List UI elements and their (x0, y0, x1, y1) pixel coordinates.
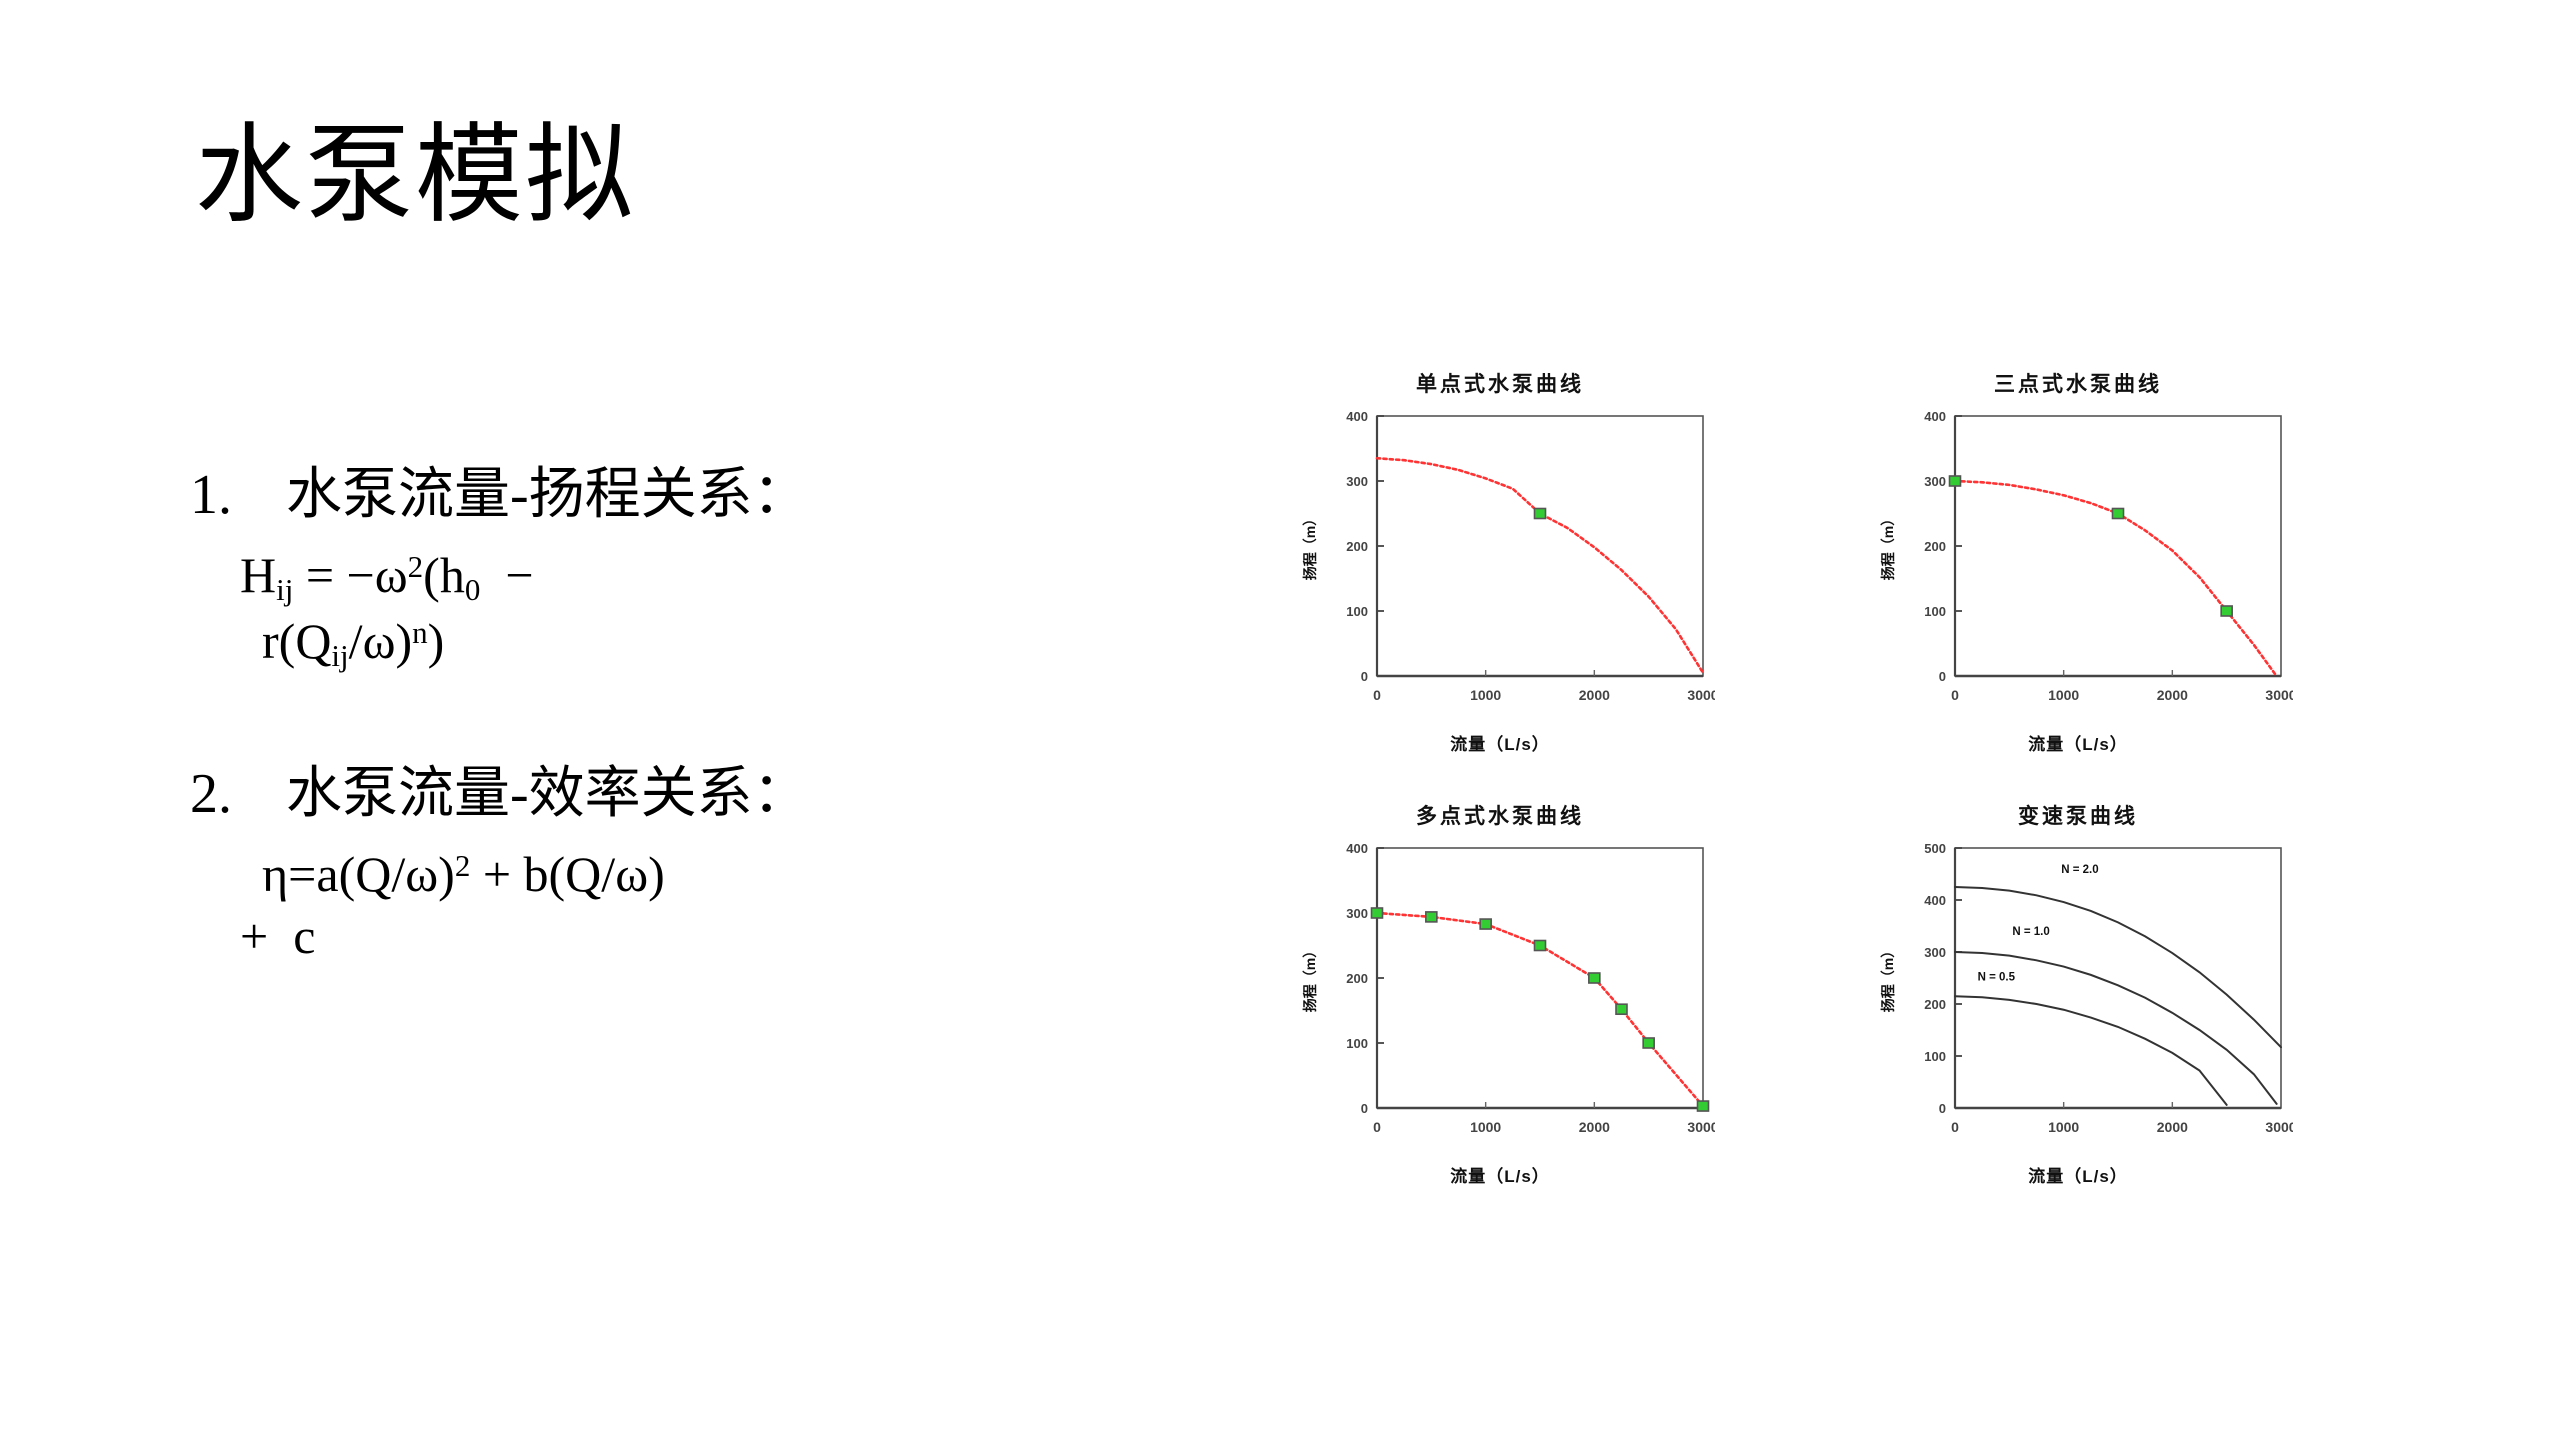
chart-three-point-xlabel: 流量（L/s） (1863, 730, 2293, 755)
formula-2-plus-2: + (240, 908, 268, 964)
formula-2-sq: 2 (455, 848, 471, 883)
y-tick-label: 500 (1924, 841, 1946, 856)
formula-1-slash: / (349, 613, 363, 669)
formula-2-eta: η (262, 846, 288, 902)
page-title: 水泵模拟 (195, 118, 635, 231)
x-tick-label: 2000 (1579, 1119, 1610, 1135)
series-annotation: N = 1.0 (2012, 926, 2049, 938)
chart-multi-point: 多点式水泵曲线 01002003004000100020003000扬程（m） … (1285, 804, 1715, 1187)
x-tick-label: 0 (1951, 687, 1959, 703)
y-tick-label: 300 (1924, 945, 1946, 960)
chart-three-point-title: 三点式水泵曲线 (1863, 372, 2293, 398)
y-tick-label: 400 (1924, 409, 1946, 424)
chart-three-point: 三点式水泵曲线 01002003004000100020003000扬程（m） … (1863, 372, 2293, 755)
chart-multi-point-plot: 01002003004000100020003000扬程（m） (1285, 830, 1715, 1160)
chart-single-point: 单点式水泵曲线 01002003004000100020003000扬程（m） … (1285, 372, 1715, 755)
series-annotation: N = 0.5 (1978, 972, 2016, 984)
bullet-1-number: 1. (190, 462, 286, 528)
bullet-1-heading: 1. 水泵流量-扬程关系： (190, 462, 1150, 528)
y-tick-label: 300 (1346, 474, 1368, 489)
y-tick-label: 400 (1346, 409, 1368, 424)
y-tick-label: 400 (1924, 893, 1946, 908)
formula-1-close-paren-2: ) (428, 613, 445, 669)
data-point-marker (2221, 606, 2232, 616)
y-tick-label: 0 (1939, 1101, 1946, 1116)
y-tick-label: 300 (1346, 906, 1368, 921)
formula-2-line-2: + c (240, 905, 1150, 967)
x-tick-label: 0 (1951, 1119, 1959, 1135)
data-point-marker (1589, 973, 1600, 983)
formula-2-plus-1: + (483, 846, 511, 902)
formula-1-h: h (440, 547, 465, 603)
formula-2-c: c (293, 908, 315, 964)
formula-2-omega: ω (405, 846, 438, 902)
data-point-marker (1535, 509, 1546, 519)
chart-variable-speed-svg: 01002003004005000100020003000扬程（m）N = 2.… (1863, 830, 2293, 1160)
chart-variable-speed-xlabel: 流量（L/s） (1863, 1162, 2293, 1187)
data-point-marker (1950, 476, 1961, 486)
chart-multi-point-xlabel: 流量（L/s） (1285, 1162, 1715, 1187)
chart-single-point-svg: 01002003004000100020003000扬程（m） (1285, 398, 1715, 728)
x-tick-label: 3000 (2265, 687, 2293, 703)
y-axis-label: 扬程（m） (1880, 512, 1896, 580)
formula-efficiency-relation: η=a(Q/ω)2 + b(Q/ω) + c (190, 843, 1150, 967)
formula-1-h-sub: 0 (465, 572, 481, 607)
formula-1-line-1: Hij = −ω2(h0 − (240, 547, 534, 603)
chart-variable-speed-title: 变速泵曲线 (1863, 804, 2293, 830)
y-tick-label: 400 (1346, 841, 1368, 856)
y-tick-label: 0 (1361, 1101, 1368, 1116)
x-tick-label: 2000 (1579, 687, 1610, 703)
formula-2-omega-2: ω (615, 846, 648, 902)
formula-1-open-paren: ( (423, 547, 440, 603)
formula-2-open-paren: ( (339, 846, 356, 902)
formula-1-Q: Q (295, 613, 331, 669)
y-tick-label: 0 (1361, 669, 1368, 684)
formula-2-Q: Q (355, 846, 391, 902)
chart-single-point-xlabel: 流量（L/s） (1285, 730, 1715, 755)
chart-variable-speed-plot: 01002003004005000100020003000扬程（m）N = 2.… (1863, 830, 2293, 1160)
y-tick-label: 200 (1346, 539, 1368, 554)
formula-2-Q-2: Q (565, 846, 601, 902)
chart-single-point-plot: 01002003004000100020003000扬程（m） (1285, 398, 1715, 728)
x-tick-label: 2000 (2157, 687, 2188, 703)
bullet-2-number: 2. (190, 761, 286, 827)
x-tick-label: 2000 (2157, 1119, 2188, 1135)
chart-single-point-title: 单点式水泵曲线 (1285, 372, 1715, 398)
x-tick-label: 3000 (1687, 687, 1715, 703)
y-tick-label: 100 (1346, 1036, 1368, 1051)
data-point-marker (1480, 919, 1491, 929)
x-tick-label: 3000 (1687, 1119, 1715, 1135)
formula-1-dash: − (505, 547, 533, 603)
bullet-2-label: 水泵流量-效率关系： (286, 761, 809, 827)
chart-multi-point-svg: 01002003004000100020003000扬程（m） (1285, 830, 1715, 1160)
y-tick-label: 100 (1924, 604, 1946, 619)
body-content: 1. 水泵流量-扬程关系： Hij = −ω2(h0 − r(Qij/ω)n) … (190, 462, 1150, 1053)
x-tick-label: 1000 (1470, 1119, 1501, 1135)
data-point-marker (1616, 1004, 1627, 1014)
y-axis-label: 扬程（m） (1880, 944, 1896, 1012)
y-axis-label: 扬程（m） (1302, 512, 1318, 580)
formula-2-close-paren-2: ) (648, 846, 665, 902)
x-tick-label: 0 (1373, 1119, 1381, 1135)
formula-2-slash: / (391, 846, 405, 902)
formula-2-open-paren-2: ( (549, 846, 566, 902)
series-annotation: N = 2.0 (2061, 864, 2098, 876)
formula-2-eq: = (288, 846, 316, 902)
formula-1-H-sub: ij (276, 572, 293, 607)
formula-1-open-paren-2: ( (279, 613, 296, 669)
x-tick-label: 1000 (2048, 1119, 2079, 1135)
chart-three-point-svg: 01002003004000100020003000扬程（m） (1863, 398, 2293, 728)
formula-2-a: a (316, 846, 338, 902)
formula-head-relation: Hij = −ω2(h0 − r(Qij/ω)n) (190, 544, 1150, 675)
y-tick-label: 100 (1346, 604, 1368, 619)
slide-canvas: 水泵模拟 1. 水泵流量-扬程关系： Hij = −ω2(h0 − r(Qij/… (0, 0, 2560, 1440)
formula-2-slash-2: / (601, 846, 615, 902)
y-tick-label: 100 (1924, 1049, 1946, 1064)
data-point-marker (1535, 941, 1546, 951)
formula-1-omega: ω (375, 547, 408, 603)
data-point-marker (1643, 1038, 1654, 1048)
bullet-item-1: 1. 水泵流量-扬程关系： Hij = −ω2(h0 − r(Qij/ω)n) (190, 462, 1150, 675)
formula-1-r: r (262, 613, 279, 669)
formula-2-close-paren: ) (438, 846, 455, 902)
bullet-2-heading: 2. 水泵流量-效率关系： (190, 761, 1150, 827)
x-tick-label: 0 (1373, 687, 1381, 703)
chart-grid: 单点式水泵曲线 01002003004000100020003000扬程（m） … (1285, 372, 2405, 1252)
data-point-marker (2113, 509, 2124, 519)
data-point-marker (1426, 912, 1437, 922)
chart-three-point-plot: 01002003004000100020003000扬程（m） (1863, 398, 2293, 728)
formula-1-line-2: r(Qij/ω)n) (240, 610, 1150, 675)
formula-1-Q-sub: ij (331, 638, 348, 673)
data-point-marker (1372, 908, 1383, 918)
bullet-item-2: 2. 水泵流量-效率关系： η=a(Q/ω)2 + b(Q/ω) + c (190, 761, 1150, 967)
y-tick-label: 200 (1346, 971, 1368, 986)
y-tick-label: 300 (1924, 474, 1946, 489)
x-tick-label: 1000 (1470, 687, 1501, 703)
formula-2-line-1: η=a(Q/ω)2 + b(Q/ω) (240, 846, 665, 902)
data-point-marker (1698, 1101, 1709, 1111)
formula-1-minus: − (347, 547, 375, 603)
formula-2-b: b (524, 846, 549, 902)
chart-multi-point-title: 多点式水泵曲线 (1285, 804, 1715, 830)
formula-1-omega-exp: 2 (408, 549, 424, 584)
y-tick-label: 0 (1939, 669, 1946, 684)
formula-1-H: H (240, 547, 276, 603)
y-axis-label: 扬程（m） (1302, 944, 1318, 1012)
formula-1-close-paren: ) (395, 613, 412, 669)
formula-1-eq: = (293, 547, 346, 603)
formula-1-omega-2: ω (363, 613, 396, 669)
y-tick-label: 200 (1924, 997, 1946, 1012)
chart-variable-speed: 变速泵曲线 01002003004005000100020003000扬程（m）… (1863, 804, 2293, 1187)
x-tick-label: 3000 (2265, 1119, 2293, 1135)
formula-1-n-exp: n (412, 615, 428, 650)
bullet-1-label: 水泵流量-扬程关系： (286, 462, 809, 528)
x-tick-label: 1000 (2048, 687, 2079, 703)
y-tick-label: 200 (1924, 539, 1946, 554)
